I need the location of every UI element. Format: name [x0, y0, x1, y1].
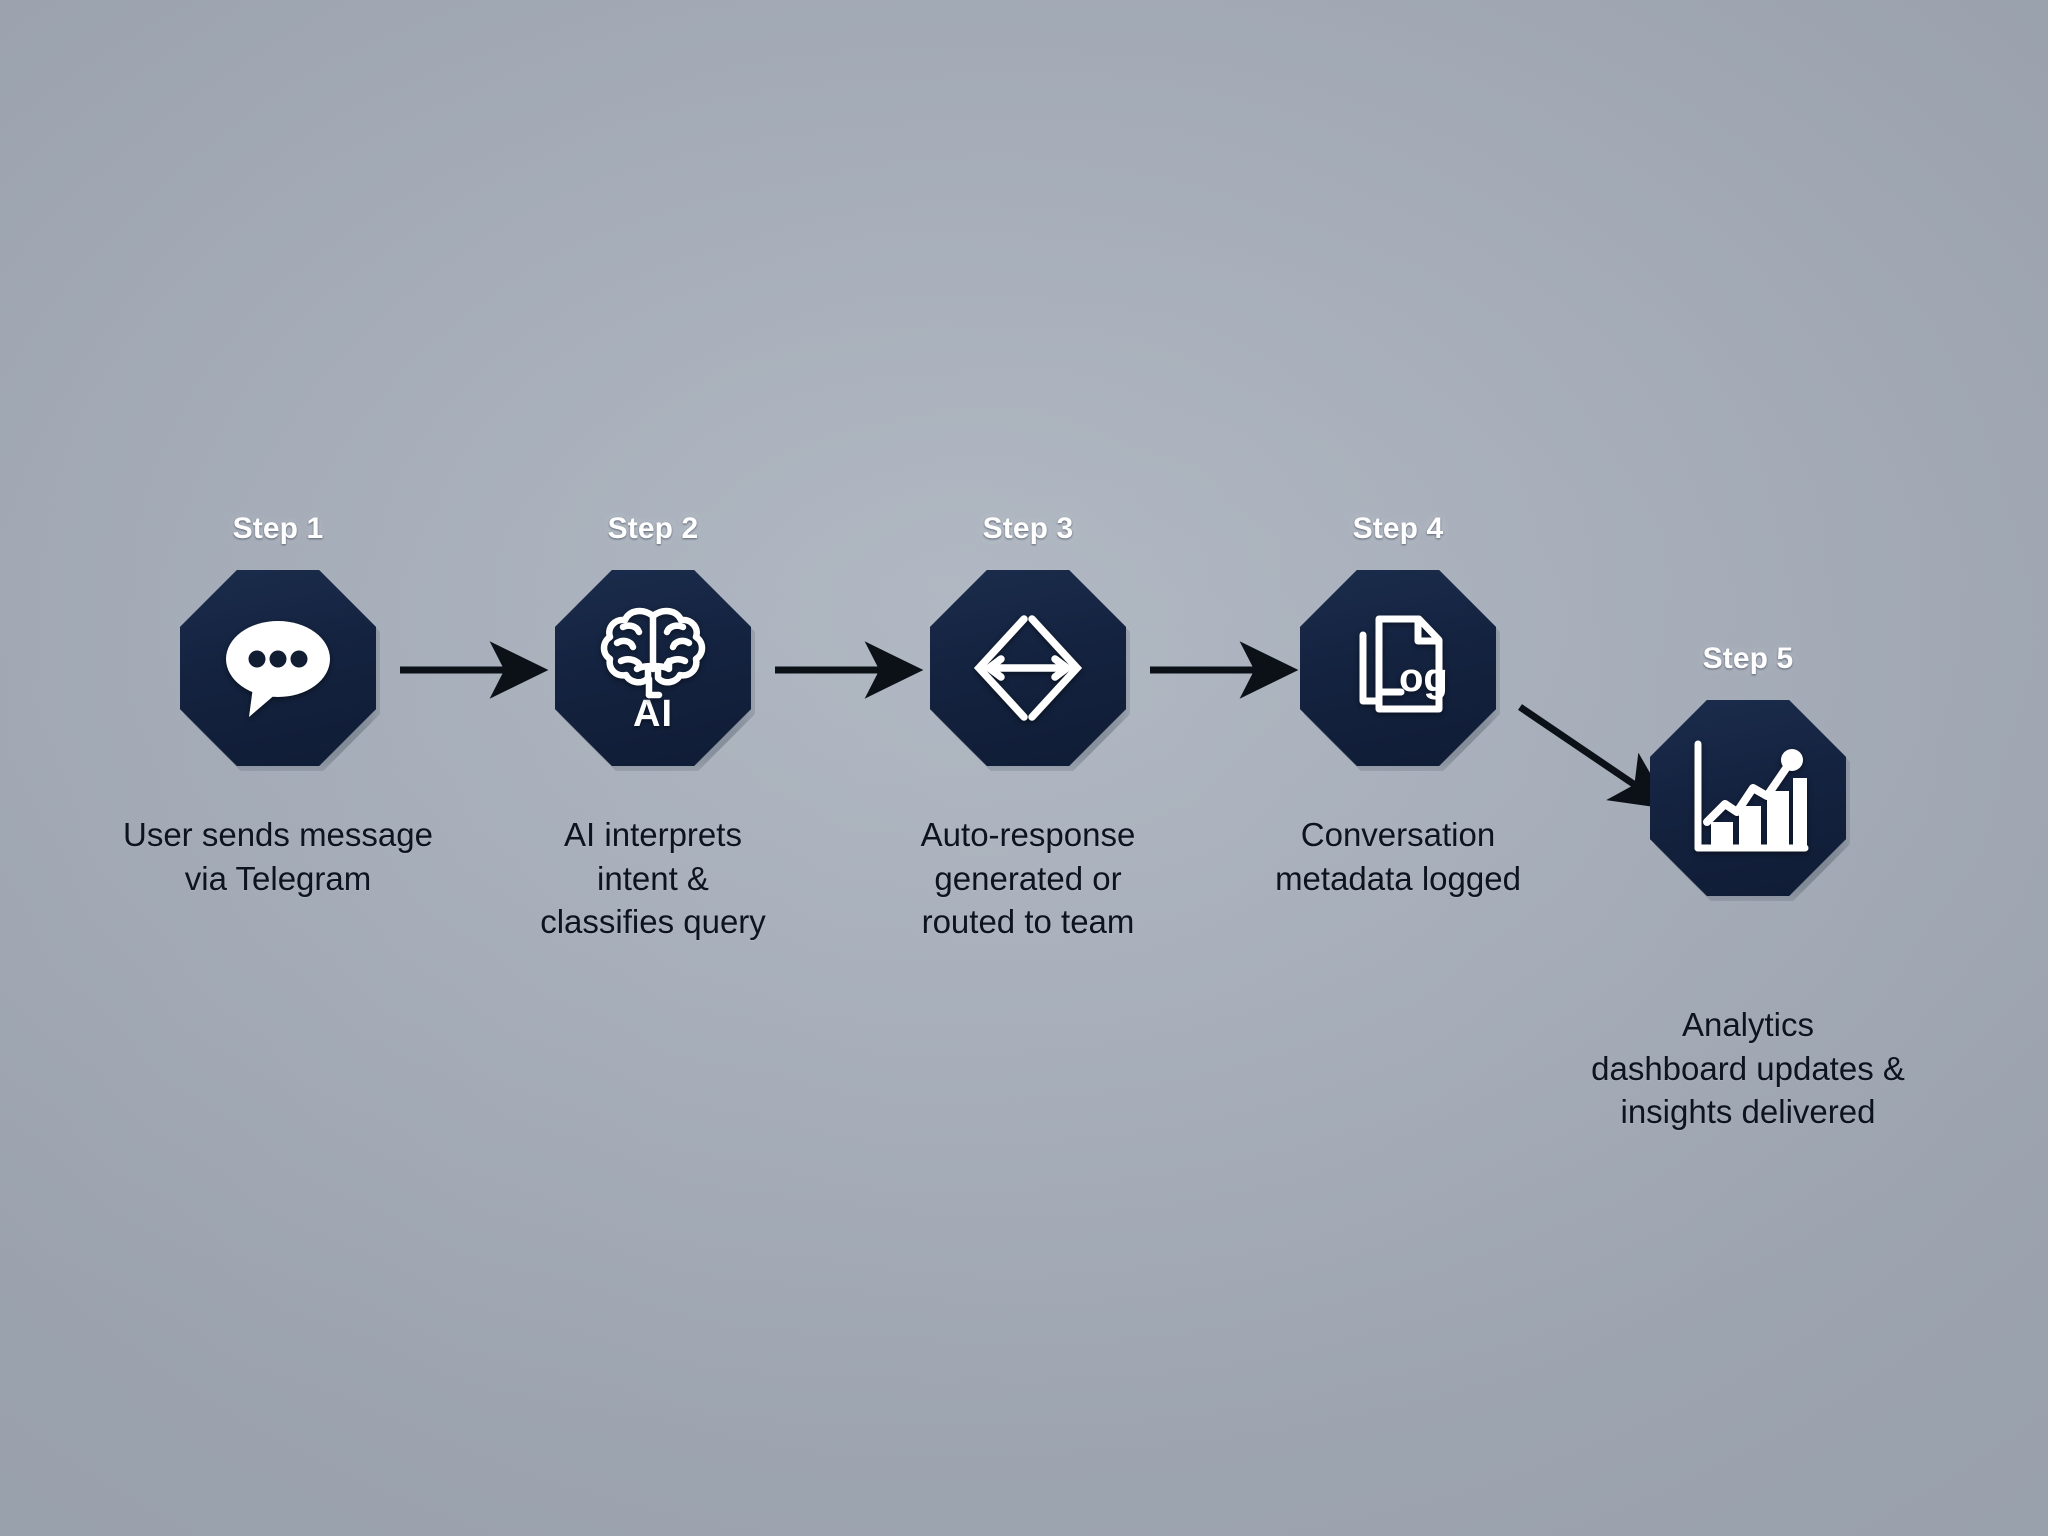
caption-step-5: Analytics dashboard updates & insights d… — [1588, 1003, 1908, 1134]
ai-icon-label: AI — [633, 695, 673, 733]
caption-step-2: AI interprets intent & classifies query — [493, 813, 813, 944]
node-step-1[interactable] — [180, 570, 376, 766]
caption-line: Analytics — [1588, 1003, 1908, 1047]
caption-line: Auto-response — [868, 813, 1188, 857]
step-label-3: Step 3 — [918, 512, 1138, 546]
caption-line: User sends message — [118, 813, 438, 857]
diagram-canvas: Step 1 User sends message via Telegram — [0, 0, 2048, 1536]
caption-line: intent & — [493, 857, 813, 901]
log-document-icon: og — [1339, 609, 1457, 727]
bar-chart-trend-icon — [1685, 738, 1811, 858]
step-label-4: Step 4 — [1288, 512, 1508, 546]
caption-line: via Telegram — [118, 857, 438, 901]
caption-step-3: Auto-response generated or routed to tea… — [868, 813, 1188, 944]
step-label-1: Step 1 — [168, 512, 388, 546]
step-label-2: Step 2 — [543, 512, 763, 546]
brain-ai-icon: AI — [597, 603, 709, 733]
step-label-5: Step 5 — [1638, 642, 1858, 676]
caption-line: AI interprets — [493, 813, 813, 857]
connector-step4-step5 — [1520, 707, 1635, 785]
caption-line: generated or — [868, 857, 1188, 901]
speech-bubble-icon — [219, 609, 337, 727]
node-step-5[interactable] — [1650, 700, 1846, 896]
caption-line: routed to team — [868, 900, 1188, 944]
caption-step-1: User sends message via Telegram — [118, 813, 438, 900]
caption-line: insights delivered — [1588, 1090, 1908, 1134]
node-step-3[interactable] — [930, 570, 1126, 766]
node-step-4[interactable]: og — [1300, 570, 1496, 766]
diamond-bidirectional-arrow-icon — [969, 609, 1087, 727]
caption-line: Conversation — [1238, 813, 1558, 857]
caption-line: metadata logged — [1238, 857, 1558, 901]
caption-line: classifies query — [493, 900, 813, 944]
brain-icon — [597, 603, 709, 699]
caption-line: dashboard updates & — [1588, 1047, 1908, 1091]
caption-step-4: Conversation metadata logged — [1238, 813, 1558, 900]
log-icon-label: og — [1399, 656, 1448, 700]
node-step-2[interactable]: AI — [555, 570, 751, 766]
